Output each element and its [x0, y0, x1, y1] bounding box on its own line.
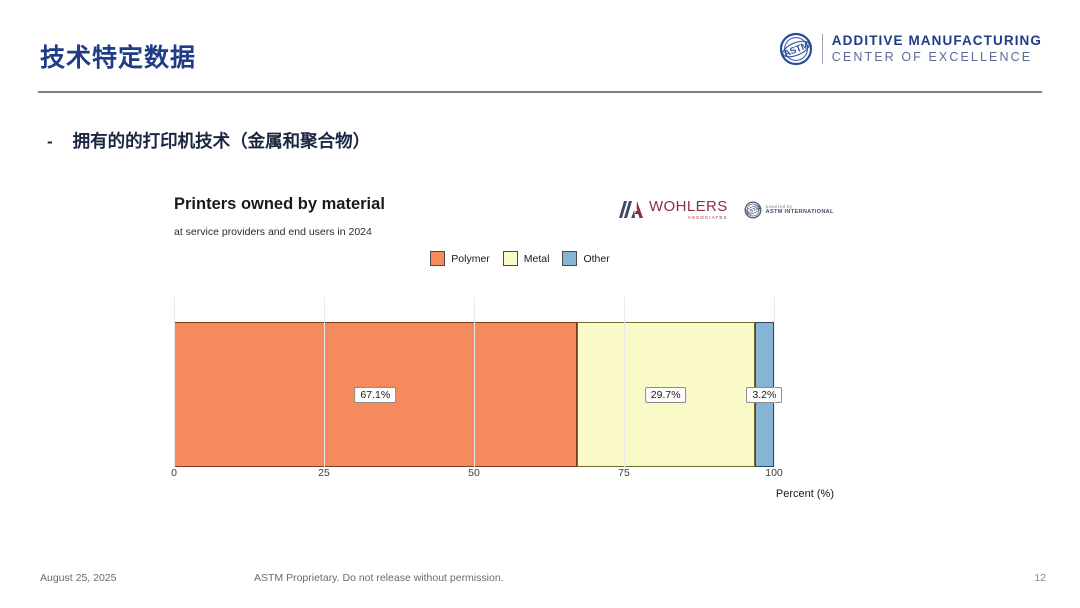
- astm-seal-icon: ASTM: [744, 201, 762, 219]
- bullet-marker: -: [47, 132, 53, 152]
- wohlers-subtitle: ASSOCIATES: [688, 216, 728, 221]
- page-number: 12: [1034, 572, 1046, 584]
- bar-segment-polymer[interactable]: 67.1%: [174, 322, 577, 467]
- figure-source-logos: WOHLERS ASSOCIATES ASTM powered by ASTM …: [618, 199, 834, 221]
- chart-figure: Printers owned by material at service pr…: [160, 185, 880, 520]
- legend-swatch-polymer-icon: [430, 251, 445, 266]
- footer-notice: ASTM Proprietary. Do not release without…: [254, 572, 504, 584]
- x-tick-25: 25: [318, 467, 330, 479]
- brand-line-2: CENTER OF EXCELLENCE: [832, 50, 1042, 66]
- bar-value-label-polymer: 67.1%: [354, 387, 396, 403]
- legend-label-metal: Metal: [524, 253, 550, 265]
- brand-wordmark: ADDITIVE MANUFACTURING CENTER OF EXCELLE…: [832, 33, 1042, 66]
- bullet-label: 拥有的的打印机技术（金属和聚合物）: [73, 128, 371, 153]
- x-axis-label: Percent (%): [174, 488, 834, 500]
- legend-swatch-other-icon: [562, 251, 577, 266]
- wohlers-name: WOHLERS: [649, 199, 728, 214]
- gridline-75: [624, 297, 625, 467]
- legend-item-polymer[interactable]: Polymer: [430, 251, 490, 266]
- gridline-100: [774, 297, 775, 467]
- astm-seal-icon: ASTM: [779, 32, 813, 66]
- wohlers-wordmark: WOHLERS ASSOCIATES: [649, 199, 728, 221]
- x-axis: 0255075100: [174, 467, 834, 487]
- footer-date: August 25, 2025: [40, 572, 116, 584]
- bar-segment-metal[interactable]: 29.7%: [577, 322, 755, 467]
- gridline-50: [474, 297, 475, 467]
- wohlers-logo: WOHLERS ASSOCIATES: [618, 199, 728, 221]
- astm-coe-logo: ASTM ADDITIVE MANUFACTURING CENTER OF EX…: [779, 32, 1042, 66]
- chart-plot-area: 67.1%29.7%3.2%: [174, 297, 834, 467]
- bullet-item: - 拥有的的打印机技术（金属和聚合物）: [47, 128, 370, 153]
- logo-divider: [822, 34, 823, 64]
- bar-value-label-other: 3.2%: [746, 387, 782, 403]
- bar-value-label-metal: 29.7%: [645, 387, 687, 403]
- wohlers-mark-icon: [618, 200, 644, 219]
- page-title: 技术特定数据: [40, 38, 196, 74]
- x-tick-0: 0: [171, 467, 177, 479]
- x-tick-100: 100: [765, 467, 783, 479]
- powered-by-wordmark: powered by ASTM INTERNATIONAL: [766, 204, 834, 216]
- legend-item-other[interactable]: Other: [562, 251, 609, 266]
- brand-line-1: ADDITIVE MANUFACTURING: [832, 33, 1042, 50]
- header-divider: [38, 91, 1042, 93]
- powered-by-astm-logo: ASTM powered by ASTM INTERNATIONAL: [744, 201, 834, 219]
- bar-segment-other[interactable]: 3.2%: [755, 322, 774, 467]
- powered-by-line-2: ASTM INTERNATIONAL: [766, 209, 834, 216]
- legend-swatch-metal-icon: [503, 251, 518, 266]
- gridline-0: [174, 297, 175, 467]
- chart-title: Printers owned by material: [174, 195, 385, 214]
- chart-legend: PolymerMetalOther: [160, 251, 880, 266]
- x-tick-75: 75: [618, 467, 630, 479]
- legend-item-metal[interactable]: Metal: [503, 251, 550, 266]
- x-tick-50: 50: [468, 467, 480, 479]
- legend-label-polymer: Polymer: [451, 253, 490, 265]
- chart-subtitle: at service providers and end users in 20…: [174, 226, 372, 238]
- gridline-25: [324, 297, 325, 467]
- legend-label-other: Other: [583, 253, 609, 265]
